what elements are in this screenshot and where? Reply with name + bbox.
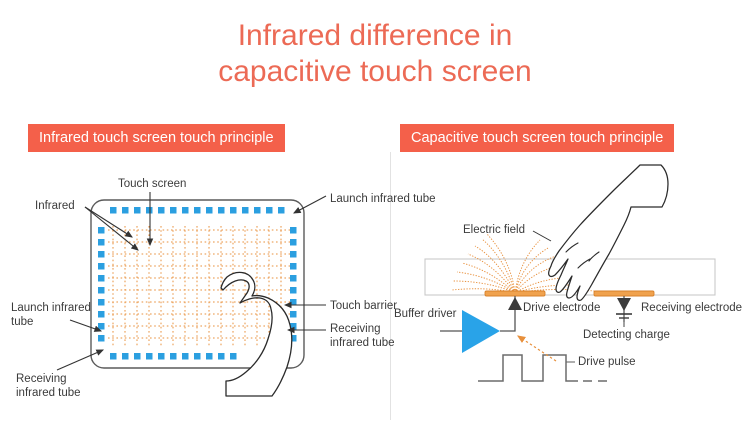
- amplifier-output-wire: [500, 322, 515, 331]
- finger-contact-lines: [566, 243, 599, 268]
- ir-tube-column-left: [98, 227, 105, 342]
- label-infrared: Infrared: [35, 199, 75, 213]
- leader-electric-field: [533, 231, 551, 241]
- infrared-beam-grid-horizontal: [108, 230, 290, 338]
- page-title: Infrared difference in capacitive touch …: [0, 18, 750, 90]
- receiving-electrode-bar: [594, 291, 654, 296]
- leader-infrared-1: [85, 207, 132, 237]
- capacitive-touch-illustration: [425, 165, 715, 381]
- receiving-electrode-ground-symbol: [616, 296, 632, 322]
- label-receiving-infrared-tube-right-line1: Receiving: [330, 322, 381, 336]
- leader-launch-infrared-tube-left: [70, 320, 101, 331]
- label-receiving-electrode: Receiving electrode: [641, 301, 742, 315]
- ir-tube-row-top: [110, 207, 285, 214]
- leader-receiving-infrared-tube-bottom: [57, 350, 103, 370]
- detecting-charge-arrow: [518, 336, 556, 361]
- leader-infrared-2: [85, 207, 138, 250]
- label-detecting-charge: Detecting charge: [583, 328, 670, 342]
- touch-screen-frame: [91, 200, 304, 368]
- left-panel-leader-lines: [57, 192, 326, 370]
- drive-electrode-ground-symbol: [508, 296, 522, 322]
- cover-glass-panel: [425, 259, 715, 295]
- capacitive-hand-icon: [549, 165, 668, 300]
- page-title-line-2: capacitive touch screen: [0, 54, 750, 90]
- label-launch-infrared-tube-top: Launch infrared tube: [330, 192, 436, 206]
- label-drive-pulse: Drive pulse: [578, 355, 636, 369]
- section-banner-capacitive: Capacitive touch screen touch principle: [400, 124, 674, 152]
- label-launch-infrared-tube-left-line1: Launch infrared: [11, 301, 91, 315]
- drive-pulse-waveform: [478, 355, 578, 381]
- infographic-root: Infrared difference in capacitive touch …: [0, 0, 750, 441]
- infrared-touch-screen-illustration: [91, 200, 304, 396]
- ir-tube-column-right: [290, 227, 297, 342]
- label-buffer-driver: Buffer driver: [394, 307, 456, 321]
- leader-launch-infrared-tube-top: [294, 196, 326, 213]
- ir-tube-row-bottom: [110, 353, 237, 360]
- label-drive-electrode: Drive electrode: [523, 301, 600, 315]
- label-touch-barrier: Touch barrier: [330, 299, 397, 313]
- label-launch-infrared-tube-left-line2: tube: [11, 315, 33, 329]
- page-title-line-1: Infrared difference in: [0, 18, 750, 54]
- label-touch-screen: Touch screen: [118, 177, 186, 191]
- infrared-beam-grid-vertical: [113, 226, 281, 347]
- electric-field-lines: [452, 234, 605, 293]
- label-receiving-infrared-tube-right-line2: infrared tube: [330, 336, 395, 350]
- section-banner-infrared: Infrared touch screen touch principle: [28, 124, 285, 152]
- label-receiving-infrared-tube-bottom-line1: Receiving: [16, 372, 67, 386]
- label-electric-field: Electric field: [463, 223, 525, 237]
- drive-electrode-bar: [485, 291, 545, 296]
- label-receiving-infrared-tube-bottom-line2: infrared tube: [16, 386, 81, 400]
- pointing-hand-icon: [221, 272, 292, 396]
